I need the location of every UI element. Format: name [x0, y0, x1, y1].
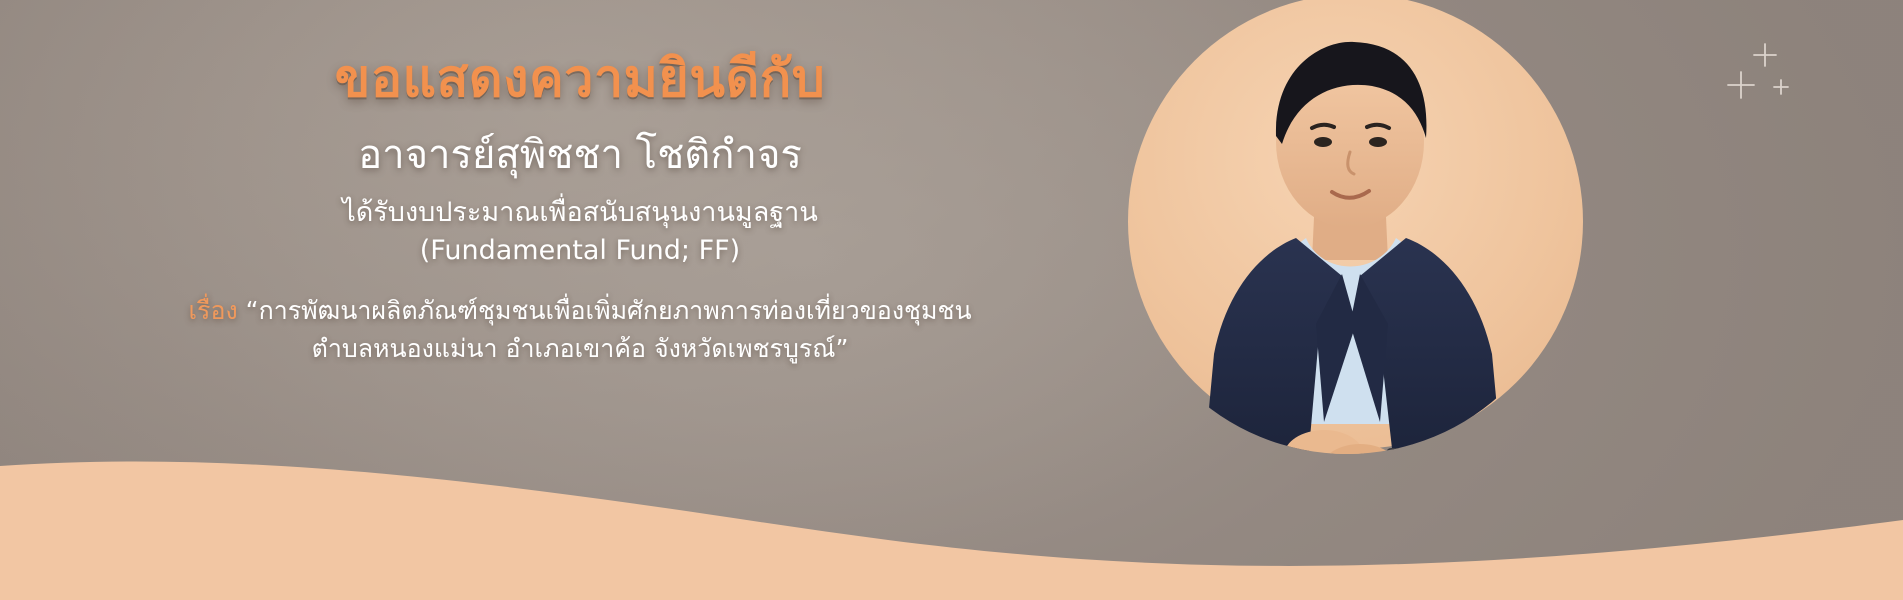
project-title: เรื่อง “การพัฒนาผลิตภัณฑ์ชุมชนเพื่อเพิ่ม… — [188, 292, 971, 367]
award-description-line-1: ได้รับงบประมาณเพื่อสนับสนุนงานมูลฐาน — [342, 194, 818, 232]
page-title: ขอแสดงความยินดีกับ — [335, 50, 825, 110]
congratulations-banner: ขอแสดงความยินดีกับ อาจารย์สุพิชชา โชติกำ… — [0, 0, 1903, 600]
project-title-line-1: การพัฒนาผลิตภัณฑ์ชุมชนเพื่อเพิ่มศักยภาพก… — [259, 296, 972, 325]
project-close-quote: ” — [835, 334, 848, 363]
portrait-circle — [1128, 0, 1583, 449]
text-content: ขอแสดงความยินดีกับ อาจารย์สุพิชชา โชติกำ… — [0, 0, 1160, 470]
award-description: ได้รับงบประมาณเพื่อสนับสนุนงานมูลฐาน (Fu… — [342, 194, 818, 271]
project-label: เรื่อง — [188, 296, 237, 325]
award-description-line-2: (Fundamental Fund; FF) — [342, 232, 818, 270]
portrait-clip — [1128, 0, 1583, 449]
honoree-name: อาจารย์สุพิชชา โชติกำจร — [358, 130, 802, 180]
project-open-quote: “ — [246, 296, 259, 325]
project-title-line-2: ตำบลหนองแม่นา อำเภอเขาค้อ จังหวัดเพชรบูร… — [312, 334, 836, 363]
